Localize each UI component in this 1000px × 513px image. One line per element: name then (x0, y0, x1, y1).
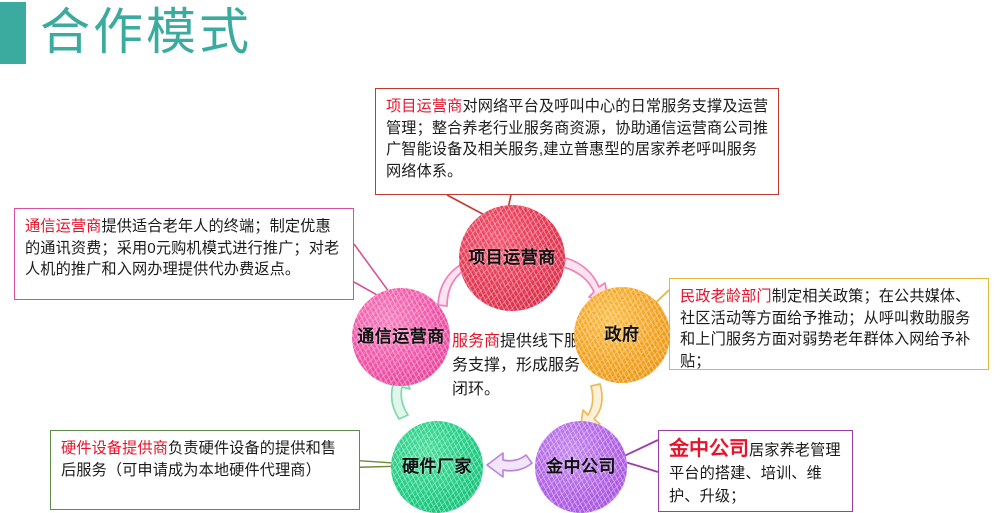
centre-note: 服务商提供线下服务支撑，形成服务闭环。 (452, 330, 582, 402)
callout-highlight: 民政老龄部门 (680, 288, 772, 305)
callout-highlight: 硬件设备提供商 (61, 440, 168, 457)
callout-telecom-operator[interactable]: 通信运营商提供适合老年人的终端；制定优惠的通讯资费；采用0元购机模式进行推广；对… (14, 208, 354, 300)
node-label: 硬件厂家 (402, 456, 472, 478)
centre-note-highlight: 服务商 (452, 333, 500, 350)
callout-civil-affairs-aging-dept[interactable]: 民政老龄部门制定相关政策；在公共媒体、社区活动等方面给予推动；从呼叫救助服务和上… (669, 278, 989, 370)
callout-project-operator[interactable]: 项目运营商对网络平台及呼叫中心的日常服务支撑及运营管理；整合养老行业服务商资源，… (375, 88, 779, 195)
arrow-jinzhong-to-hardware (487, 453, 532, 477)
node-project-operator[interactable]: 项目运营商 (459, 205, 565, 311)
node-telecom-operator[interactable]: 通信运营商 (352, 288, 450, 386)
callout-hardware-supplier[interactable]: 硬件设备提供商负责硬件设备的提供和售后服务（可申请成为本地硬件代理商） (50, 430, 360, 510)
callout-highlight: 通信运营商 (25, 218, 101, 235)
node-hardware-manufacturer[interactable]: 硬件厂家 (391, 421, 483, 513)
node-label: 通信运营商 (357, 326, 445, 348)
callout-highlight: 金中公司 (669, 438, 749, 460)
node-label: 项目运营商 (468, 247, 556, 269)
callout-highlight: 项目运营商 (386, 98, 462, 115)
node-label: 政府 (605, 324, 640, 346)
node-government[interactable]: 政府 (574, 287, 670, 383)
callout-jinzhong-company[interactable]: 金中公司居家养老管理平台的搭建、培训、维护、升级； (658, 430, 853, 512)
slide-canvas: 合作模式 (0, 0, 1000, 513)
node-label: 金中公司 (546, 456, 616, 478)
node-jinzhong-company[interactable]: 金中公司 (535, 421, 627, 513)
